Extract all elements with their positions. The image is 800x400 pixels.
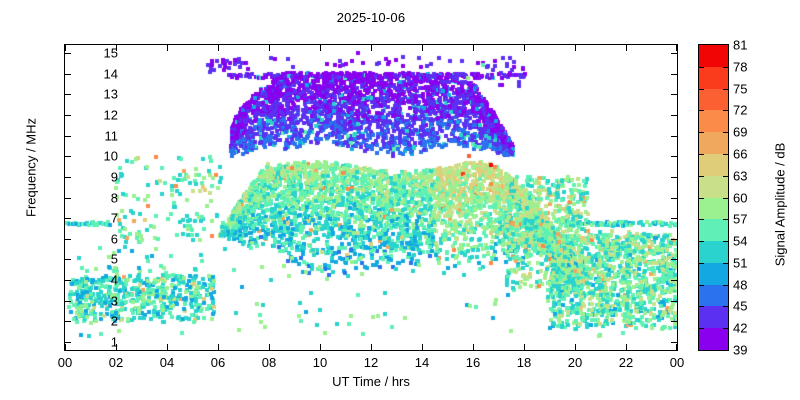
y-tick [65, 53, 71, 54]
colorbar-tick-right [723, 154, 729, 155]
x-tick-label: 06 [198, 355, 238, 370]
colorbar-tick-right [723, 89, 729, 90]
y-tick [65, 177, 71, 178]
y-tick-right [671, 136, 677, 137]
x-tick [371, 344, 372, 350]
y-tick [65, 301, 71, 302]
x-tick-label: 04 [147, 355, 187, 370]
y-tick-label: 4 [78, 272, 118, 287]
colorbar-tick-label: 45 [733, 299, 747, 314]
y-tick [65, 115, 71, 116]
y-tick-right [671, 259, 677, 260]
colorbar-tick [698, 219, 704, 220]
colorbar-tick-right [723, 306, 729, 307]
x-tick [575, 344, 576, 350]
x-tick-label: 00 [45, 355, 85, 370]
y-tick [65, 198, 71, 199]
colorbar-tick-right [723, 241, 729, 242]
plot-area [64, 44, 678, 351]
y-tick-right [671, 156, 677, 157]
colorbar-title: Signal Amplitude / dB [773, 90, 788, 320]
colorbar-tick-label: 66 [733, 146, 747, 161]
colorbar-band [699, 219, 728, 241]
colorbar-tick [698, 285, 704, 286]
y-tick [65, 94, 71, 95]
colorbar-tick-right [723, 219, 729, 220]
y-tick-label: 1 [78, 334, 118, 349]
y-tick [65, 74, 71, 75]
colorbar-tick-label: 75 [733, 81, 747, 96]
colorbar-tick [698, 263, 704, 264]
y-tick-label: 13 [78, 87, 118, 102]
y-tick-label: 10 [78, 149, 118, 164]
colorbar-tick [698, 67, 704, 68]
x-tick-label: 12 [351, 355, 391, 370]
y-tick-label: 12 [78, 108, 118, 123]
x-tick [269, 344, 270, 350]
colorbar-tick [698, 132, 704, 133]
y-tick-right [671, 53, 677, 54]
y-tick-right [671, 198, 677, 199]
x-tick-top [626, 45, 627, 51]
x-tick-label: 10 [300, 355, 340, 370]
colorbar-tick [698, 176, 704, 177]
y-tick-label: 2 [78, 314, 118, 329]
x-tick-label: 18 [504, 355, 544, 370]
colorbar-tick-right [723, 110, 729, 111]
colorbar-band [699, 175, 728, 197]
colorbar-tick-label: 78 [733, 59, 747, 74]
y-tick [65, 342, 71, 343]
y-tick [65, 218, 71, 219]
x-tick-label: 08 [249, 355, 289, 370]
colorbar-tick [698, 198, 704, 199]
colorbar-tick-right [723, 176, 729, 177]
x-tick-top [320, 45, 321, 51]
colorbar-band [699, 88, 728, 110]
x-axis-title: UT Time / hrs [64, 374, 678, 389]
x-tick [422, 344, 423, 350]
colorbar-tick-label: 48 [733, 277, 747, 292]
y-tick-right [671, 177, 677, 178]
colorbar-tick-label: 39 [733, 343, 747, 358]
x-tick-label: 16 [453, 355, 493, 370]
y-axis-title: Frequency / MHz [24, 53, 39, 283]
x-tick [65, 344, 66, 350]
colorbar-band [699, 132, 728, 154]
colorbar-band [699, 328, 728, 350]
y-tick-label: 9 [78, 169, 118, 184]
colorbar-tick-right [723, 132, 729, 133]
colorbar-tick [698, 110, 704, 111]
colorbar-tick-right [723, 263, 729, 264]
colorbar-band [699, 110, 728, 132]
colorbar-band [699, 66, 728, 88]
colorbar-tick-right [723, 285, 729, 286]
y-tick-right [671, 239, 677, 240]
y-tick-right [671, 342, 677, 343]
x-tick-top [524, 45, 525, 51]
x-tick-top [269, 45, 270, 51]
y-tick-label: 6 [78, 231, 118, 246]
y-tick-right [671, 74, 677, 75]
colorbar-band [699, 44, 728, 66]
x-tick [473, 344, 474, 350]
x-tick-label: 14 [402, 355, 442, 370]
colorbar-band [699, 284, 728, 306]
x-tick-top [676, 45, 677, 51]
x-tick [626, 344, 627, 350]
y-tick-right [671, 94, 677, 95]
colorbar-tick-label: 57 [733, 212, 747, 227]
x-tick-top [422, 45, 423, 51]
y-tick [65, 136, 71, 137]
x-tick-label: 00 [657, 355, 697, 370]
y-tick-label: 7 [78, 211, 118, 226]
colorbar-tick-label: 51 [733, 255, 747, 270]
colorbar-tick [698, 154, 704, 155]
y-tick [65, 321, 71, 322]
y-tick-label: 5 [78, 252, 118, 267]
colorbar-band [699, 197, 728, 219]
colorbar-tick-right [723, 198, 729, 199]
y-tick-label: 14 [78, 66, 118, 81]
ionogram-chart-page: 2025-10-06 123456789101112131415 0002040… [0, 0, 800, 400]
y-tick-label: 15 [78, 46, 118, 61]
x-tick-label: 20 [555, 355, 595, 370]
y-tick-label: 11 [78, 128, 118, 143]
colorbar-tick-label: 72 [733, 103, 747, 118]
x-tick-top [218, 45, 219, 51]
y-tick [65, 156, 71, 157]
colorbar-tick-label: 54 [733, 234, 747, 249]
x-tick-label: 02 [96, 355, 136, 370]
colorbar-tick-label: 63 [733, 168, 747, 183]
colorbar-band [699, 306, 728, 328]
colorbar-tick [698, 241, 704, 242]
colorbar-tick [698, 328, 704, 329]
colorbar-tick [698, 306, 704, 307]
colorbar-band [699, 262, 728, 284]
y-tick-right [671, 115, 677, 116]
colorbar-band [699, 153, 728, 175]
y-tick-right [671, 301, 677, 302]
chart-title: 2025-10-06 [64, 10, 678, 25]
scatter-plot-canvas [65, 45, 677, 350]
y-tick-right [671, 321, 677, 322]
colorbar-tick-label: 69 [733, 125, 747, 140]
x-tick-top [167, 45, 168, 51]
y-tick-label: 8 [78, 190, 118, 205]
y-tick [65, 280, 71, 281]
y-tick-right [671, 280, 677, 281]
colorbar-band [699, 240, 728, 262]
colorbar-tick-label: 42 [733, 321, 747, 336]
x-tick-label: 22 [606, 355, 646, 370]
y-tick-right [671, 218, 677, 219]
y-tick-label: 3 [78, 293, 118, 308]
x-tick [167, 344, 168, 350]
x-tick-top [65, 45, 66, 51]
y-tick [65, 259, 71, 260]
x-tick-top [473, 45, 474, 51]
colorbar-tick [698, 89, 704, 90]
x-tick [320, 344, 321, 350]
x-tick [218, 344, 219, 350]
colorbar-tick-label: 81 [733, 38, 747, 53]
x-tick-top [575, 45, 576, 51]
colorbar-tick-right [723, 328, 729, 329]
x-tick [676, 344, 677, 350]
colorbar-tick-right [723, 67, 729, 68]
colorbar-tick-label: 60 [733, 190, 747, 205]
y-tick [65, 239, 71, 240]
x-tick [524, 344, 525, 350]
x-tick-top [371, 45, 372, 51]
